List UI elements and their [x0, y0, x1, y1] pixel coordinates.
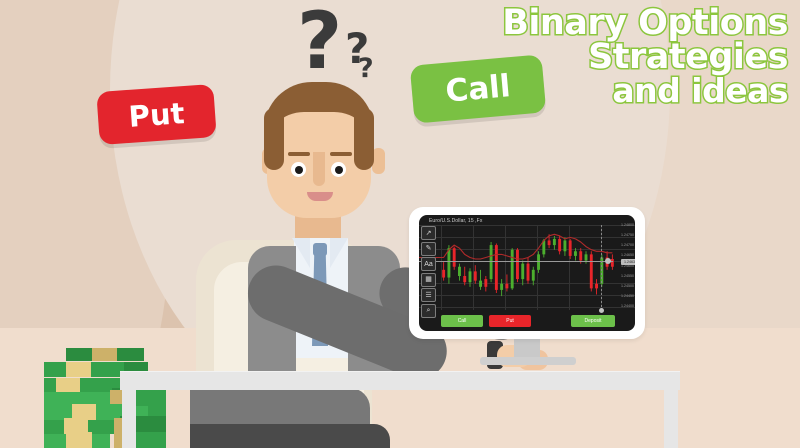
- headline: Binary Options Strategies and ideas: [502, 6, 788, 107]
- price-tick-label: 1.24550: [621, 274, 634, 278]
- price-tick-label: 1.24800: [621, 223, 634, 227]
- chart-toolbar[interactable]: ↗ ✎ Aa ▦ ☰ ⌕: [421, 226, 438, 319]
- text-tool-icon[interactable]: Aa: [421, 257, 436, 271]
- price-tick-label: 1.24500: [621, 284, 634, 288]
- pupil-right: [335, 166, 343, 174]
- question-mark-small-icon: ?: [358, 55, 374, 82]
- eyebrow-left: [288, 152, 310, 156]
- illustration-canvas: Binary Options Strategies and ideas ? ? …: [0, 0, 800, 448]
- expiry-vertical-line: [601, 225, 602, 310]
- price-tick-label: 1.24750: [621, 233, 634, 237]
- monitor-stand-neck: [514, 337, 540, 359]
- monitor-stand-base: [480, 357, 576, 365]
- question-mark-large-icon: ?: [297, 3, 342, 81]
- screen-put-button[interactable]: Put: [489, 315, 531, 327]
- pupil-left: [295, 166, 303, 174]
- current-price-label: 1.24630: [621, 259, 635, 265]
- trend-line-overlay: [419, 225, 635, 310]
- expiry-marker-dot: [599, 308, 604, 313]
- trading-platform-screen[interactable]: Euro/U.S.Dollar, 15 ,Fx ↗ ✎ Aa: [419, 215, 635, 331]
- price-tick-label: 1.24450: [621, 294, 634, 298]
- trendline-tool-icon[interactable]: ↗: [421, 226, 436, 240]
- chart-title: Euro/U.S.Dollar, 15 ,Fx: [429, 218, 482, 224]
- price-tick-label: 1.24700: [621, 243, 634, 247]
- current-price-dot: [605, 258, 611, 264]
- shirt-collar-right: [330, 238, 348, 268]
- money-stack: [44, 346, 166, 448]
- desk-leg-right: [664, 388, 678, 448]
- sideburn-left: [264, 108, 284, 170]
- price-tick-label: 1.24650: [621, 253, 634, 257]
- put-badge[interactable]: Put: [96, 84, 216, 145]
- sideburn-right: [354, 108, 374, 170]
- eyebrow-right: [330, 152, 352, 156]
- shin: [190, 424, 390, 448]
- desk-leg-left: [122, 388, 136, 448]
- price-tick-label: 1.24400: [621, 304, 634, 308]
- desk-surface: [120, 372, 680, 390]
- nose: [313, 152, 325, 186]
- screen-deposit-button[interactable]: Deposit: [571, 315, 615, 327]
- screen-call-button[interactable]: Call: [441, 315, 483, 327]
- table-list-icon[interactable]: ☰: [421, 288, 436, 302]
- current-price-line: [419, 261, 613, 262]
- trade-button-row: Call Put Deposit: [419, 315, 635, 329]
- headline-line-2: Strategies: [502, 40, 788, 74]
- price-axis: 1.248001.247501.247001.246501.246001.245…: [611, 225, 635, 310]
- indicator-chart-icon[interactable]: ▦: [421, 273, 436, 287]
- headline-line-1: Binary Options: [502, 6, 788, 40]
- call-badge[interactable]: Call: [410, 54, 547, 123]
- draw-pen-icon[interactable]: ✎: [421, 242, 436, 256]
